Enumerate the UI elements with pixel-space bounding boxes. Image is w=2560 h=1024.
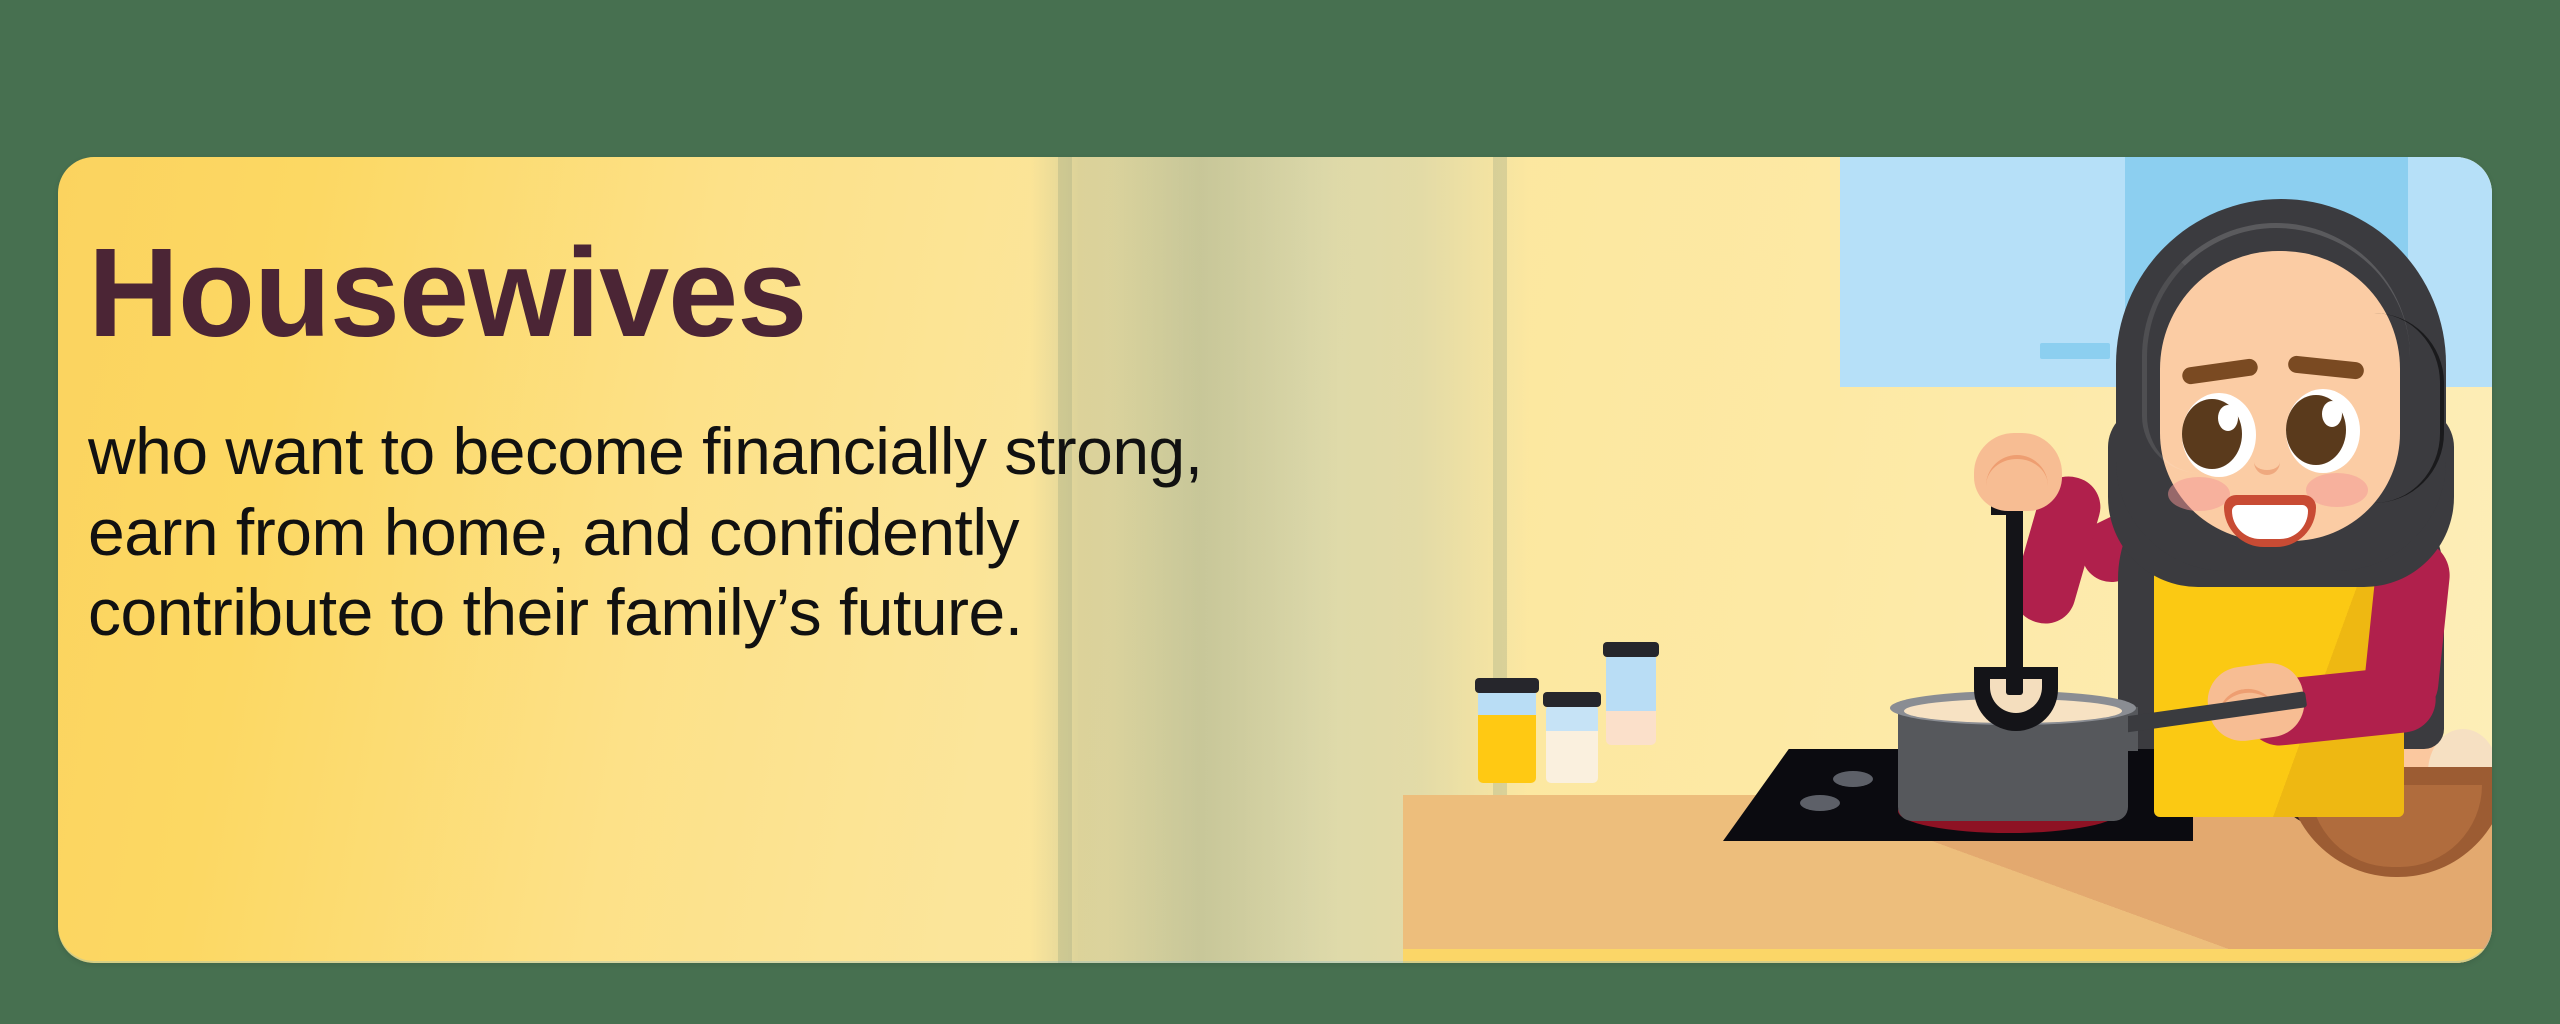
page-title: Housewives xyxy=(88,227,1338,359)
ladle-handle xyxy=(2006,499,2023,695)
description-line-2: earn from home, and confidently xyxy=(88,492,1338,573)
spice-jar-blue-top xyxy=(1606,653,1656,711)
description-line-1: who want to become financially strong, xyxy=(88,411,1338,492)
description-paragraph: who want to become financially strong, e… xyxy=(88,411,1338,653)
housewife-character xyxy=(1778,157,2492,963)
hijab-edge xyxy=(2334,313,2444,503)
description-line-3: contribute to their family’s future. xyxy=(88,572,1338,653)
text-block: Housewives who want to become financiall… xyxy=(88,227,1338,653)
spice-jar-cream-cap xyxy=(1543,692,1601,707)
cheek-blush-left xyxy=(2168,477,2230,511)
spice-jar-blue-cap xyxy=(1603,642,1659,657)
spice-jar-cream-top xyxy=(1546,705,1598,731)
spice-jar-yellow-cap xyxy=(1475,678,1539,693)
screenshot-stage: Housewives who want to become financiall… xyxy=(0,0,2560,1024)
audience-persona-card: Housewives who want to become financiall… xyxy=(58,157,2492,963)
housewife-cooking-illustration xyxy=(1778,157,2492,963)
